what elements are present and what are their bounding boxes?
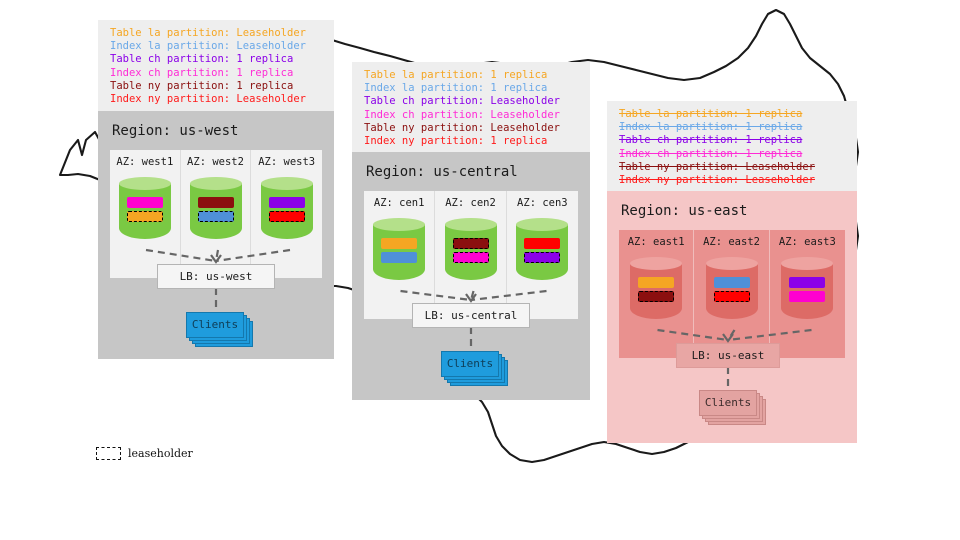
az-west3[interactable]: AZ: west3 [251,150,322,278]
partition-legend-line: Table la partition: Leaseholder [110,27,324,40]
partition-bars [445,238,497,263]
cylinder-top [190,177,242,190]
database-cylinder[interactable] [516,218,568,286]
region-title-us-east: Region: us-east [621,203,845,219]
partition-legend-line: Index ch partition: 1 replica [110,67,324,80]
az-row-us-central: AZ: cen1AZ: cen2AZ: cen3 [364,191,578,319]
az-label: AZ: cen3 [517,197,568,209]
az-label: AZ: west2 [187,156,244,168]
cylinder-top [706,257,758,270]
partition-bar-index-la [381,252,417,263]
partition-legend-line: Index ny partition: 1 replica [364,135,580,148]
clients-label: Clients [441,351,499,377]
partition-legend-line: Table ch partition: 1 replica [619,134,847,147]
az-label: AZ: cen1 [374,197,425,209]
partition-legend-line: Index la partition: Leaseholder [110,40,324,53]
clients-us-west[interactable]: Clients [186,312,244,338]
partition-bar-index-ny [714,291,750,302]
clients-label: Clients [186,312,244,338]
az-cen3[interactable]: AZ: cen3 [507,191,578,319]
partition-bars [119,197,171,222]
partition-legend-us-west: Table la partition: LeaseholderIndex la … [98,20,334,114]
clients-us-east[interactable]: Clients [699,390,757,416]
partition-bar-table-la [638,277,674,288]
az-west2[interactable]: AZ: west2 [181,150,252,278]
cylinder-top [781,257,833,270]
az-label: AZ: east3 [779,236,836,248]
load-balancer-us-central[interactable]: LB: us-central [412,303,530,328]
load-balancer-us-east[interactable]: LB: us-east [676,343,780,368]
partition-bars [190,197,242,222]
partition-bar-index-ch [127,197,163,208]
az-cen1[interactable]: AZ: cen1 [364,191,435,319]
region-title-us-central: Region: us-central [366,164,578,180]
partition-bar-index-ch [453,252,489,263]
az-west1[interactable]: AZ: west1 [110,150,181,278]
az-label: AZ: cen2 [445,197,496,209]
partition-bars [261,197,313,222]
database-cylinder[interactable] [373,218,425,286]
partition-legend-line: Index ch partition: Leaseholder [364,109,580,122]
partition-bar-table-ch [789,277,825,288]
partition-legend-line: Table ch partition: 1 replica [110,53,324,66]
partition-bar-table-la [381,238,417,249]
partition-legend-line: Index la partition: 1 replica [364,82,580,95]
partition-legend-line: Table la partition: 1 replica [619,108,847,121]
az-label: AZ: east1 [628,236,685,248]
partition-legend-line: Index la partition: 1 replica [619,121,847,134]
partition-bar-table-ny [638,291,674,302]
diagram-canvas: Table la partition: LeaseholderIndex la … [0,0,960,540]
cylinder-top [630,257,682,270]
cylinder-top [119,177,171,190]
partition-bar-table-ch [269,197,305,208]
partition-bar-index-ny [269,211,305,222]
database-cylinder[interactable] [119,177,171,245]
partition-legend-line: Index ny partition: Leaseholder [619,174,847,187]
az-label: AZ: west3 [258,156,315,168]
partition-legend-us-central: Table la partition: 1 replicaIndex la pa… [352,62,590,156]
leaseholder-legend: leaseholder [96,447,193,460]
clients-label: Clients [699,390,757,416]
cylinder-top [373,218,425,231]
partition-bar-table-ny [453,238,489,249]
az-east3[interactable]: AZ: east3 [770,230,845,358]
cylinder-top [261,177,313,190]
partition-bars [630,277,682,302]
partition-bars [373,238,425,263]
az-east1[interactable]: AZ: east1 [619,230,694,358]
cylinder-top [445,218,497,231]
az-label: AZ: east2 [703,236,760,248]
region-title-us-west: Region: us-west [112,123,322,139]
partition-bars [706,277,758,302]
partition-legend-line: Table ny partition: Leaseholder [619,161,847,174]
database-cylinder[interactable] [261,177,313,245]
database-cylinder[interactable] [445,218,497,286]
database-cylinder[interactable] [630,257,682,325]
database-cylinder[interactable] [706,257,758,325]
partition-bar-index-ch [789,291,825,302]
partition-legend-us-east: Table la partition: 1 replicaIndex la pa… [607,101,857,195]
partition-legend-line: Table ny partition: 1 replica [110,80,324,93]
partition-bar-table-ny [198,197,234,208]
database-cylinder[interactable] [190,177,242,245]
partition-bars [781,277,833,302]
partition-legend-line: Index ny partition: Leaseholder [110,93,324,106]
partition-legend-line: Table la partition: 1 replica [364,69,580,82]
load-balancer-us-west[interactable]: LB: us-west [157,264,275,289]
az-label: AZ: west1 [116,156,173,168]
az-row-us-east: AZ: east1AZ: east2AZ: east3 [619,230,845,358]
partition-bar-table-ch [524,252,560,263]
leaseholder-legend-label: leaseholder [128,447,193,460]
partition-bars [516,238,568,263]
partition-legend-line: Table ny partition: Leaseholder [364,122,580,135]
leaseholder-swatch-icon [96,447,121,460]
partition-bar-index-ny [524,238,560,249]
partition-bar-table-la [127,211,163,222]
clients-us-central[interactable]: Clients [441,351,499,377]
partition-legend-line: Index ch partition: 1 replica [619,148,847,161]
partition-bar-index-la [198,211,234,222]
database-cylinder[interactable] [781,257,833,325]
az-row-us-west: AZ: west1AZ: west2AZ: west3 [110,150,322,278]
partition-legend-line: Table ch partition: Leaseholder [364,95,580,108]
partition-bar-index-la [714,277,750,288]
cylinder-top [516,218,568,231]
az-cen2[interactable]: AZ: cen2 [435,191,506,319]
az-east2[interactable]: AZ: east2 [694,230,769,358]
